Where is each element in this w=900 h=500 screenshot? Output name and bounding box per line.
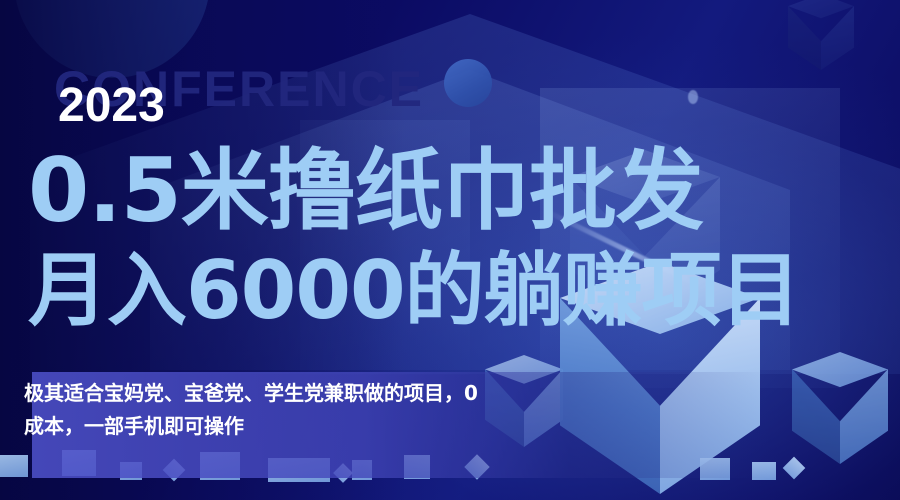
headline-primary: 0.5米撸纸巾批发: [28, 148, 900, 234]
headline-secondary: 月入6000的躺赚项目: [28, 252, 900, 330]
decor-tile: [0, 455, 28, 477]
description-text: 极其适合宝妈党、宝爸党、学生党兼职做的项目，0成本，一部手机即可操作: [24, 377, 494, 443]
year-label: 2023: [58, 82, 165, 130]
promo-poster: CONFERENCE 2023 0.5米撸纸巾批发 月入6000的躺赚项目 极其…: [0, 0, 900, 500]
